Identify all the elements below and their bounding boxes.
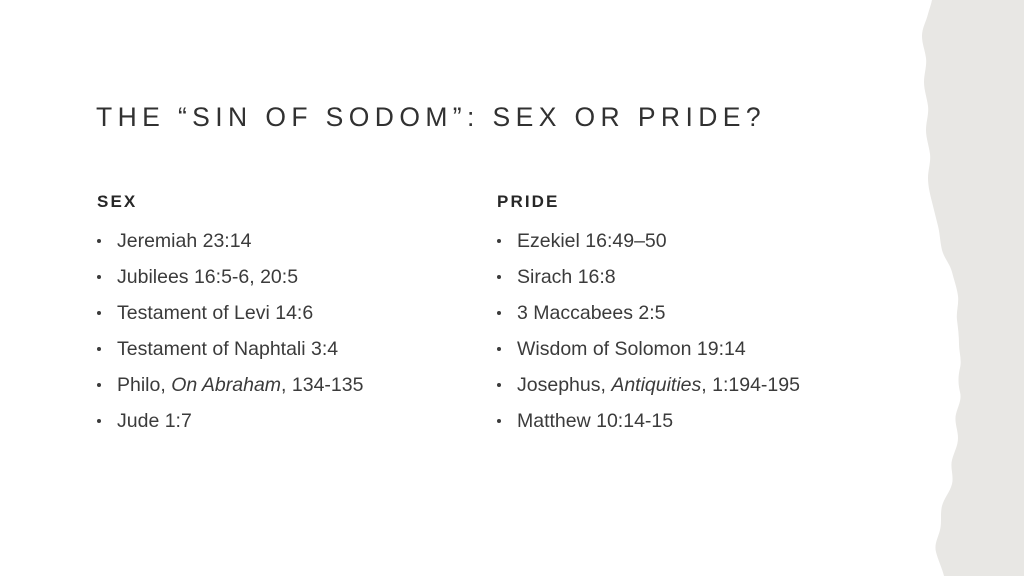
- list-item-italic: Antiquities: [611, 374, 701, 396]
- bullet-dot-icon: [97, 311, 101, 315]
- list-item: Sirach 16:8: [496, 266, 896, 289]
- bullet-dot-icon: [97, 275, 101, 279]
- list-item: Jeremiah 23:14: [96, 230, 496, 253]
- slide-title: THE “SIN OF SODOM”: SEX OR PRIDE?: [96, 100, 896, 134]
- bullet-dot-icon: [497, 419, 501, 423]
- list-item-text: Ezekiel 16:49–50: [517, 230, 667, 252]
- column-pride: PRIDE Ezekiel 16:49–50 Sirach 16:8 3 Mac…: [496, 192, 896, 446]
- list-item-text: Testament of Levi 14:6: [117, 302, 313, 324]
- list-item-italic: On Abraham: [171, 374, 281, 396]
- list-item-text: Jeremiah 23:14: [117, 230, 251, 252]
- presentation-slide: THE “SIN OF SODOM”: SEX OR PRIDE? SEX Je…: [0, 0, 1024, 576]
- list-item-suffix: , 134-135: [281, 374, 363, 396]
- bullet-dot-icon: [97, 239, 101, 243]
- column-header-pride: PRIDE: [497, 192, 896, 212]
- two-column-content: SEX Jeremiah 23:14 Jubilees 16:5-6, 20:5…: [96, 192, 896, 446]
- torn-paper-edge-decoration: [914, 0, 1024, 576]
- bullet-list-sex: Jeremiah 23:14 Jubilees 16:5-6, 20:5 Tes…: [96, 230, 496, 433]
- list-item-text: Jude 1:7: [117, 410, 192, 432]
- column-sex: SEX Jeremiah 23:14 Jubilees 16:5-6, 20:5…: [96, 192, 496, 446]
- list-item: 3 Maccabees 2:5: [496, 302, 896, 325]
- bullet-list-pride: Ezekiel 16:49–50 Sirach 16:8 3 Maccabees…: [496, 230, 896, 433]
- list-item: Philo, On Abraham, 134-135: [96, 374, 496, 397]
- list-item-text: 3 Maccabees 2:5: [517, 302, 666, 324]
- list-item: Josephus, Antiquities, 1:194-195: [496, 374, 896, 397]
- bullet-dot-icon: [497, 275, 501, 279]
- list-item-text: Testament of Naphtali 3:4: [117, 338, 338, 360]
- bullet-dot-icon: [497, 311, 501, 315]
- list-item-text: Wisdom of Solomon 19:14: [517, 338, 746, 360]
- list-item: Ezekiel 16:49–50: [496, 230, 896, 253]
- list-item: Jude 1:7: [96, 410, 496, 433]
- bullet-dot-icon: [497, 347, 501, 351]
- column-header-sex: SEX: [97, 192, 496, 212]
- list-item: Wisdom of Solomon 19:14: [496, 338, 896, 361]
- list-item: Testament of Naphtali 3:4: [96, 338, 496, 361]
- list-item-text: Philo,: [117, 374, 171, 396]
- bullet-dot-icon: [97, 419, 101, 423]
- bullet-dot-icon: [97, 383, 101, 387]
- bullet-dot-icon: [97, 347, 101, 351]
- list-item-text: Josephus,: [517, 374, 611, 396]
- torn-paper-icon: [914, 0, 1024, 576]
- list-item: Testament of Levi 14:6: [96, 302, 496, 325]
- list-item-text: Jubilees 16:5-6, 20:5: [117, 266, 298, 288]
- bullet-dot-icon: [497, 239, 501, 243]
- bullet-dot-icon: [497, 383, 501, 387]
- list-item: Jubilees 16:5-6, 20:5: [96, 266, 496, 289]
- list-item-suffix: , 1:194-195: [701, 374, 800, 396]
- list-item-text: Sirach 16:8: [517, 266, 616, 288]
- list-item: Matthew 10:14-15: [496, 410, 896, 433]
- list-item-text: Matthew 10:14-15: [517, 410, 673, 432]
